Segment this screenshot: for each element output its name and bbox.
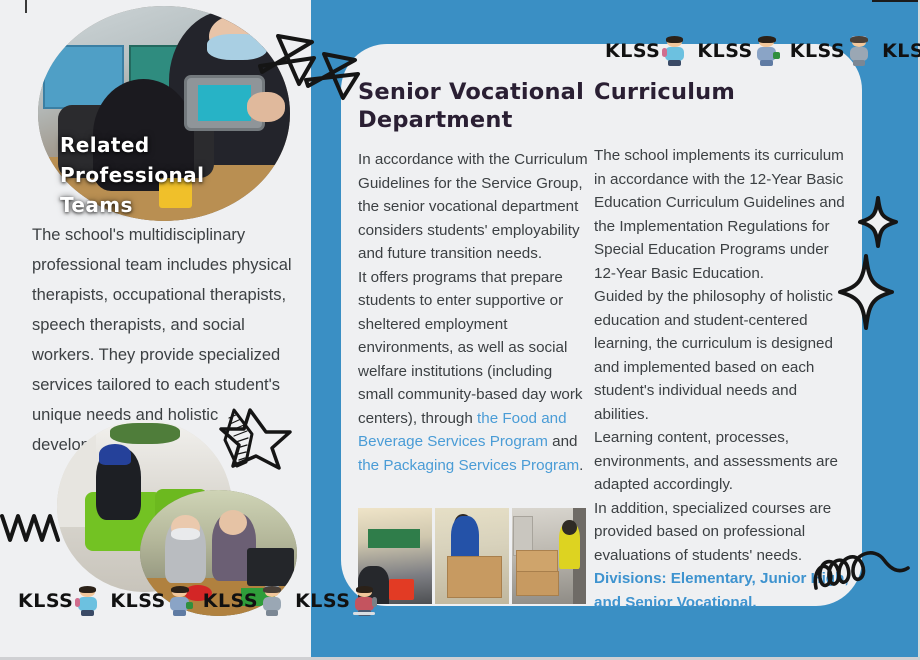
sparkle-small-right xyxy=(858,196,898,248)
watermark-row-bottom: KLSS KLSS KLSS KLSS xyxy=(18,586,377,616)
curriculum-paragraph-2: Guided by the philosophy of holistic edu… xyxy=(594,285,850,426)
senior-vocational-heading: Senior Vocational Department xyxy=(358,78,588,134)
senior-vocational-paragraph-1: In accordance with the Curriculum Guidel… xyxy=(358,148,588,266)
watermark-item: KLSS xyxy=(203,586,285,616)
watermark-item: KLSS xyxy=(605,36,687,66)
senior-vocational-body: In accordance with the Curriculum Guidel… xyxy=(358,148,588,477)
hero-caption-line-2: Professional Teams xyxy=(60,160,280,220)
photo-moving-boxes xyxy=(512,508,586,604)
hero-photo-caption: Related Professional Teams xyxy=(60,130,280,220)
middle-column: Senior Vocational Department In accordan… xyxy=(358,78,588,477)
student-skateboard-icon xyxy=(351,586,377,616)
watermark-item: KLSS xyxy=(110,586,192,616)
student-figure-icon xyxy=(74,586,100,616)
watermark-row-top: KLSS KLSS KLSS KLSS xyxy=(605,36,920,66)
star-striped-left xyxy=(216,396,294,472)
star-outline-top-2 xyxy=(300,48,364,104)
poster-page: Related Professional Teams The school's … xyxy=(0,0,920,660)
photo-packing-box xyxy=(435,508,509,604)
top-right-rule xyxy=(872,0,920,2)
watermark-item: KLSS xyxy=(790,36,872,66)
hero-caption-line-1: Related xyxy=(60,130,280,160)
student-figure-icon xyxy=(754,36,780,66)
watermark-item: KLSS xyxy=(18,586,100,616)
watermark-label: KLSS xyxy=(605,40,660,62)
watermark-label: KLSS xyxy=(882,40,920,62)
watermark-label: KLSS xyxy=(110,590,165,612)
zigzag-left xyxy=(0,510,64,546)
curriculum-heading: Curriculum xyxy=(594,78,850,106)
watermark-label: KLSS xyxy=(295,590,350,612)
watermark-item: KLSS xyxy=(882,36,920,66)
watermark-label: KLSS xyxy=(697,40,752,62)
vocational-photo-strip xyxy=(358,508,586,604)
watermark-label: KLSS xyxy=(790,40,845,62)
curriculum-paragraph-3: Learning content, processes, environment… xyxy=(594,426,850,497)
student-figure-icon xyxy=(167,586,193,616)
left-column: Related Professional Teams The school's … xyxy=(0,0,311,660)
watermark-item: KLSS xyxy=(697,36,779,66)
curriculum-paragraph-1: The school implements its curriculum in … xyxy=(594,144,850,285)
student-figure-icon xyxy=(259,586,285,616)
sparkle-large-right xyxy=(838,254,894,330)
watermark-item: KLSS xyxy=(295,586,377,616)
senior-vocational-paragraph-2: It offers programs that prepare students… xyxy=(358,266,588,478)
link-packaging-services-program[interactable]: the Packaging Services Program xyxy=(358,457,579,474)
paragraph-2-end: . xyxy=(579,457,583,474)
paragraph-2-lead: It offers programs that prepare students… xyxy=(358,269,583,427)
watermark-label: KLSS xyxy=(18,590,73,612)
student-figure-icon xyxy=(661,36,687,66)
right-column: Curriculum The school implements its cur… xyxy=(594,78,850,614)
student-figure-icon xyxy=(846,36,872,66)
paragraph-2-conjunction: and xyxy=(548,433,578,450)
watermark-label: KLSS xyxy=(203,590,258,612)
loops-bottom-right xyxy=(812,538,912,600)
